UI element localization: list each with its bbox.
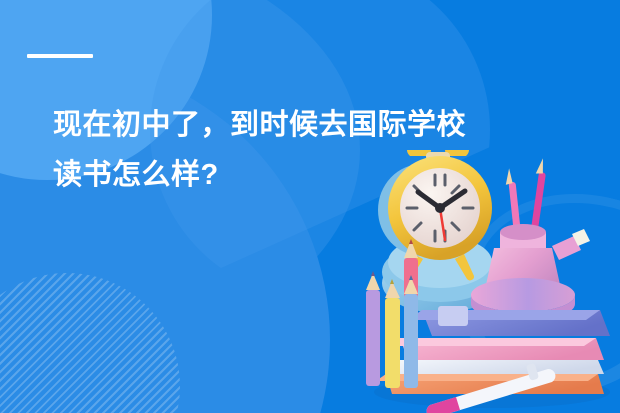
cup-pencil-pink-tip [504, 168, 513, 185]
clock-center-pin [435, 203, 445, 213]
pencil-lavender [366, 290, 380, 386]
pencil-blue [404, 294, 418, 388]
book-white [392, 360, 604, 374]
promo-banner: 现在初中了，到时候去国际学校 读书怎么样? [0, 0, 620, 413]
headline-line-1: 现在初中了，到时候去国际学校 [53, 100, 573, 150]
decorative-rule [27, 54, 93, 58]
pencil-yellow [385, 298, 400, 388]
pencil-cup-group [471, 158, 590, 321]
cup-base [471, 278, 575, 312]
study-supplies-illustration [352, 150, 620, 413]
book-periwinkle-top [408, 310, 600, 320]
cup-opening [500, 224, 546, 240]
book-pink-top [388, 338, 596, 346]
pencil-lavender-tip [371, 271, 375, 276]
cup-pencil-magenta-tip [536, 158, 545, 175]
book-bookmark [438, 306, 468, 326]
